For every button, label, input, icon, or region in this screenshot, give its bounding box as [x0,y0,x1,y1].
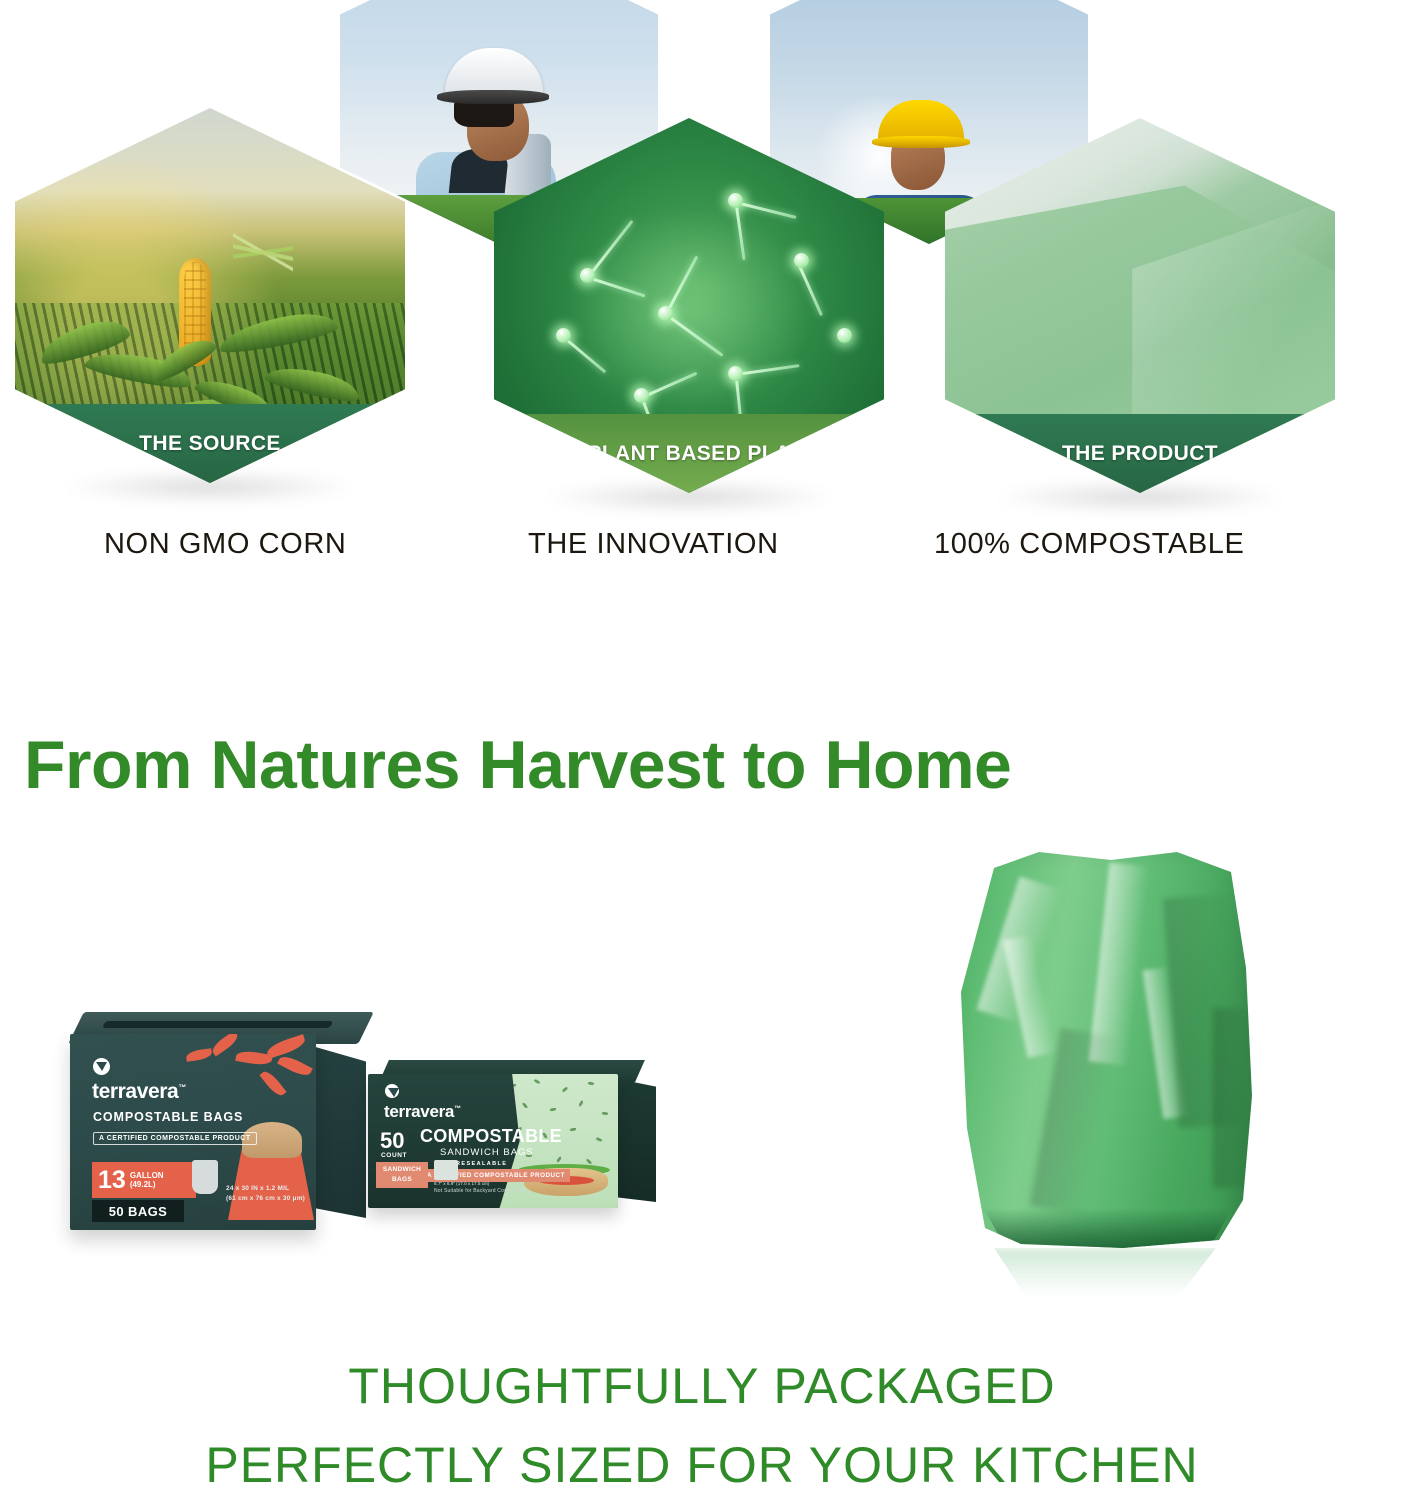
caption-non-gmo-corn: NON GMO CORN [104,528,346,561]
bottom-line-2: PERFECTLY SIZED FOR YOUR KITCHEN [0,1436,1404,1494]
hex-band-the-source: THE SOURCE [15,404,405,483]
caption-the-innovation: THE INNOVATION [528,528,779,561]
bag-icon [192,1160,218,1194]
product-box-sandwich-bags: terravera [364,1060,664,1220]
hex-band-label: PLANT BASED PLA [587,442,790,466]
product-title: COMPOSTABLE BAGS [93,1110,243,1124]
hex-band-plant-based-pla: PLANT BASED PLA [494,414,884,493]
bag-icon [434,1160,458,1180]
box-front-panel: terravera™ COMPOSTABLE BAGS A CERTIFIED … [70,1034,316,1230]
count-label: COUNT [381,1152,407,1159]
bag-dimensions: 6.7" x 6.9" (17.0 x 17.5 cm) [434,1181,489,1187]
box-side-panel [312,1046,366,1218]
bottom-line-1: THOUGHTFULLY PACKAGED [0,1357,1404,1415]
product-subtitle: SANDWICH BAGS [440,1147,534,1158]
page-headline: From Natures Harvest to Home [24,730,1380,801]
box-side-panel: terravera [614,1078,656,1202]
brand-name: terravera™ [384,1102,461,1122]
bag-count-badge: 50 BAGS [92,1200,184,1222]
not-suitable-note: Not Suitable for Backyard Composting [434,1188,526,1194]
size-unit: GALLON (49.2L) [130,1171,164,1189]
bag-bottom-fold [967,1208,1243,1248]
size-number: 13 [98,1168,126,1193]
product-packaging-scene: terravera™ COMPOSTABLE BAGS A CERTIFIED … [0,830,1404,1330]
terravera-logo-icon [385,1084,399,1098]
box-front-panel: terravera™ COMPOSTABLE SANDWICH BAGS RES… [368,1074,618,1208]
certification-badge: A CERTIFIED COMPOSTABLE PRODUCT [93,1132,257,1145]
box-dimensions: 24 x 30 IN x 1.2 MIL (61 cm x 76 cm x 30… [226,1184,305,1204]
bag-reflection [973,1248,1237,1296]
bag-body [955,848,1255,1248]
caption-100-compostable: 100% COMPOSTABLE [934,528,1244,561]
product-title: COMPOSTABLE [420,1126,562,1147]
count-number: 50 [380,1130,404,1152]
brand-name: terravera™ [92,1080,186,1104]
bag-kind-badge: SANDWICH BAGS [376,1162,428,1188]
product-box-compostable-bags: terravera™ COMPOSTABLE BAGS A CERTIFIED … [62,1012,372,1232]
green-compostable-bag-photo [955,848,1255,1248]
hex-band-label: THE SOURCE [139,432,281,456]
side-brand-name: terravera [857,1108,872,1162]
hex-band-the-product: THE PRODUCT [945,414,1335,493]
process-hexagon-row: THE SOURCE [0,0,1404,510]
hex-band-label: THE PRODUCT [1062,442,1218,466]
terravera-logo-icon [93,1058,110,1075]
resealable-label: RESEALABLE [456,1161,507,1167]
size-badge: 13 GALLON (49.2L) [92,1162,196,1198]
